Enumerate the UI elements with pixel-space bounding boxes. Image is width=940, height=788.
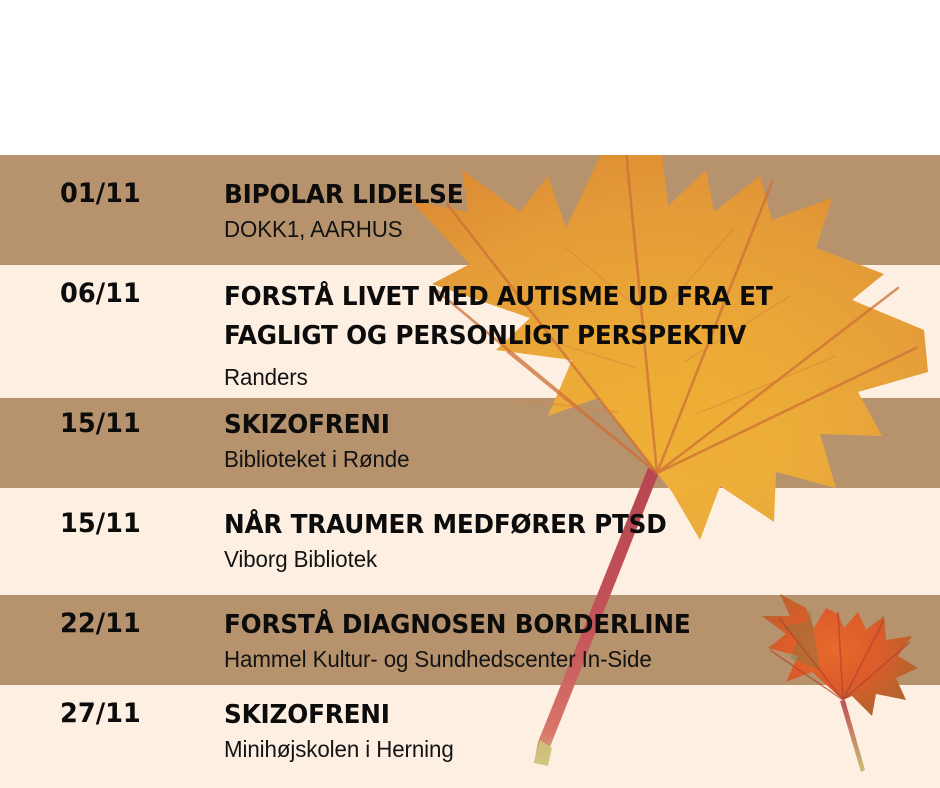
- event-title: SKIZOFRENI: [224, 408, 889, 442]
- event-body: SKIZOFRENI Biblioteket i Rønde: [224, 408, 924, 474]
- event-body: SKIZOFRENI Minihøjskolen i Herning: [224, 698, 924, 764]
- event-date: 06/11: [60, 278, 141, 309]
- event-title: NÅR TRAUMER MEDFØRER PTSD: [224, 508, 889, 542]
- poster-canvas: Temaaftener i november 01/11 BIPOLAR LID…: [0, 0, 940, 788]
- poster-header: [0, 0, 940, 155]
- event-body: FORSTÅ LIVET MED AUTISME UD FRA ET FAGLI…: [224, 278, 924, 392]
- event-venue: Viborg Bibliotek: [224, 544, 903, 574]
- event-title: FORSTÅ DIAGNOSEN BORDERLINE: [224, 608, 889, 642]
- event-venue: Hammel Kultur- og Sundhedscenter In-Side: [224, 644, 903, 674]
- event-venue: Biblioteket i Rønde: [224, 444, 903, 474]
- event-body: BIPOLAR LIDELSE DOKK1, AARHUS: [224, 178, 924, 244]
- event-title: FORSTÅ LIVET MED AUTISME UD FRA ET FAGLI…: [224, 278, 889, 356]
- event-date: 22/11: [60, 608, 141, 639]
- event-body: FORSTÅ DIAGNOSEN BORDERLINE Hammel Kultu…: [224, 608, 924, 674]
- event-title: SKIZOFRENI: [224, 698, 889, 732]
- event-venue: Randers: [224, 362, 903, 392]
- event-date: 15/11: [60, 508, 141, 539]
- event-venue: DOKK1, AARHUS: [224, 214, 903, 244]
- event-date: 01/11: [60, 178, 141, 209]
- event-venue: Minihøjskolen i Herning: [224, 734, 903, 764]
- event-date: 27/11: [60, 698, 141, 729]
- event-title: BIPOLAR LIDELSE: [224, 178, 889, 212]
- event-body: NÅR TRAUMER MEDFØRER PTSD Viborg Bibliot…: [224, 508, 924, 574]
- event-date: 15/11: [60, 408, 141, 439]
